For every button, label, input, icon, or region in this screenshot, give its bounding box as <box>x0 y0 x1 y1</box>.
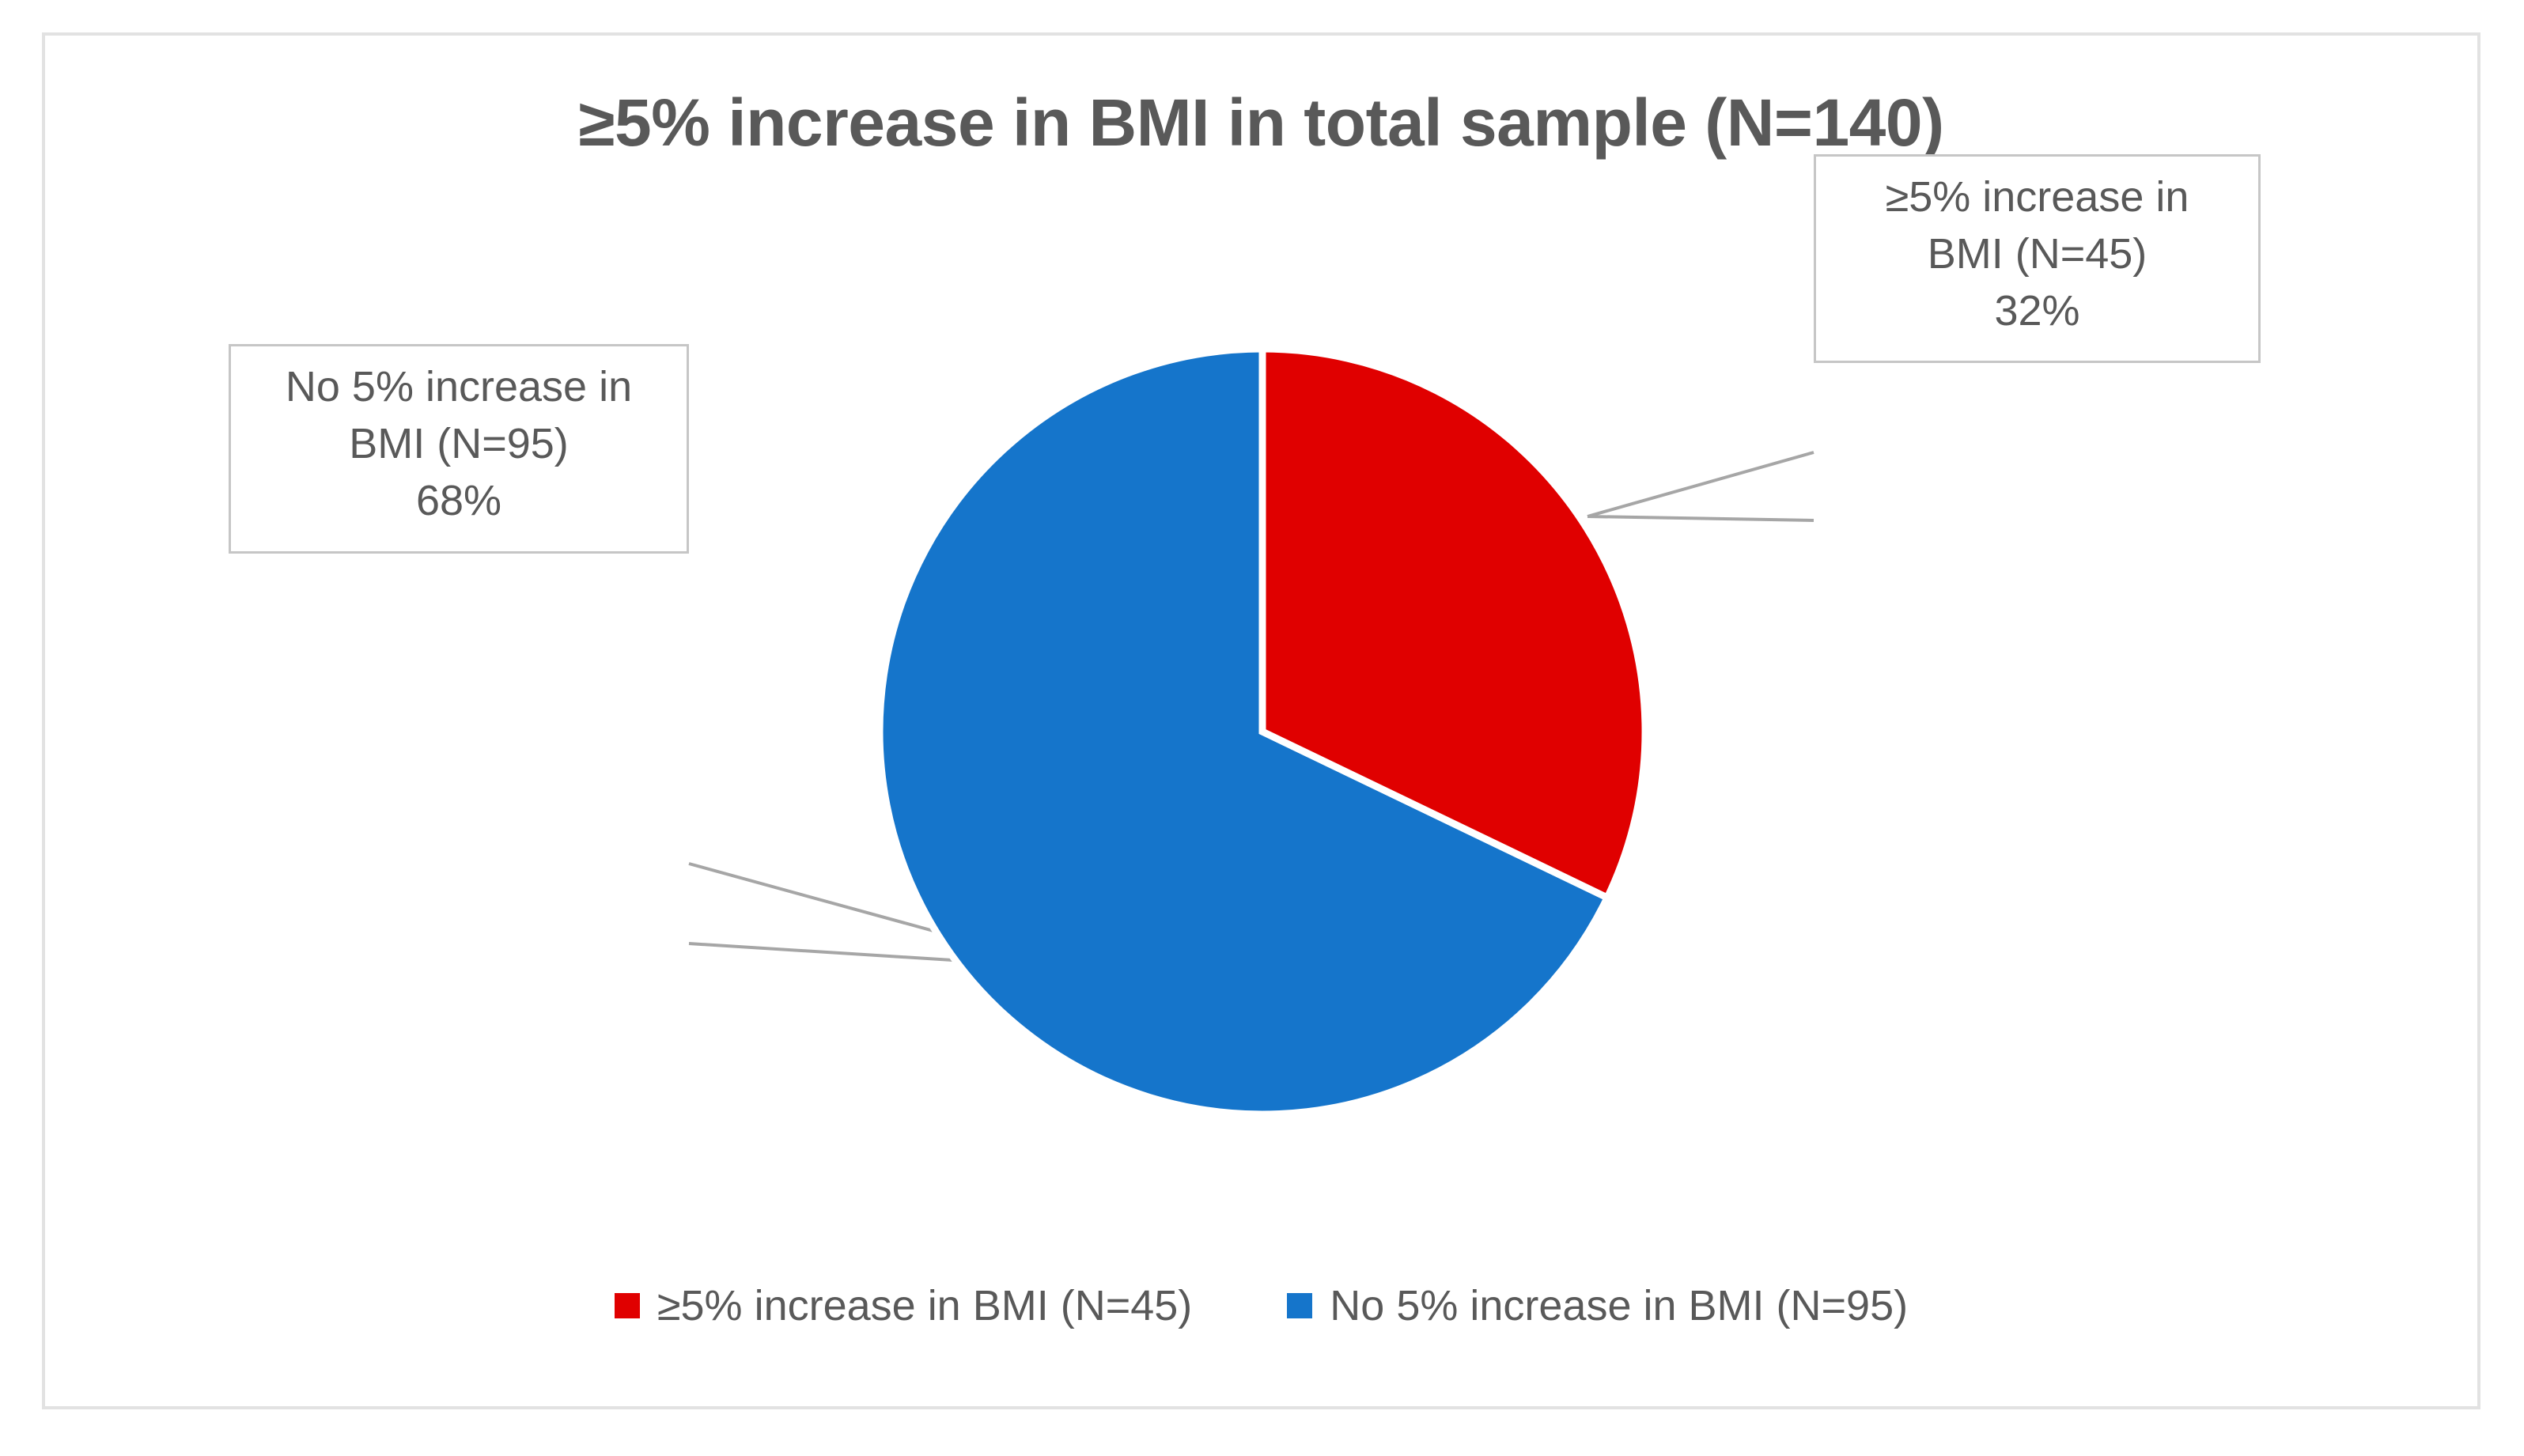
legend-swatch-red-icon <box>615 1293 640 1318</box>
pie-slices <box>880 349 1645 1114</box>
legend-item-no-increase[interactable]: No 5% increase in BMI (N=95) <box>1287 1281 1908 1330</box>
chart-legend: ≥5% increase in BMI (N=45) No 5% increas… <box>45 1281 2477 1330</box>
data-label-increase[interactable]: ≥5% increase in BMI (N=45) 32% <box>1814 154 2261 363</box>
chart-container: ≥5% increase in BMI in total sample (N=1… <box>42 32 2480 1409</box>
legend-label-increase: ≥5% increase in BMI (N=45) <box>657 1281 1192 1330</box>
plot-area: ≥5% increase in BMI (N=45) 32% No 5% inc… <box>45 36 2477 1406</box>
data-label-increase-percent: 32% <box>1830 283 2244 340</box>
data-label-no-increase[interactable]: No 5% increase in BMI (N=95) 68% <box>229 344 689 554</box>
data-label-no-increase-percent: 68% <box>245 473 672 530</box>
legend-item-increase[interactable]: ≥5% increase in BMI (N=45) <box>615 1281 1192 1330</box>
legend-swatch-blue-icon <box>1287 1293 1312 1318</box>
leader-line-right <box>1587 452 1814 520</box>
data-label-increase-line2: BMI (N=45) <box>1830 226 2244 283</box>
data-label-no-increase-line1: No 5% increase in <box>245 359 672 416</box>
data-label-increase-line1: ≥5% increase in <box>1830 169 2244 226</box>
legend-label-no-increase: No 5% increase in BMI (N=95) <box>1330 1281 1908 1330</box>
data-label-no-increase-line2: BMI (N=95) <box>245 416 672 473</box>
